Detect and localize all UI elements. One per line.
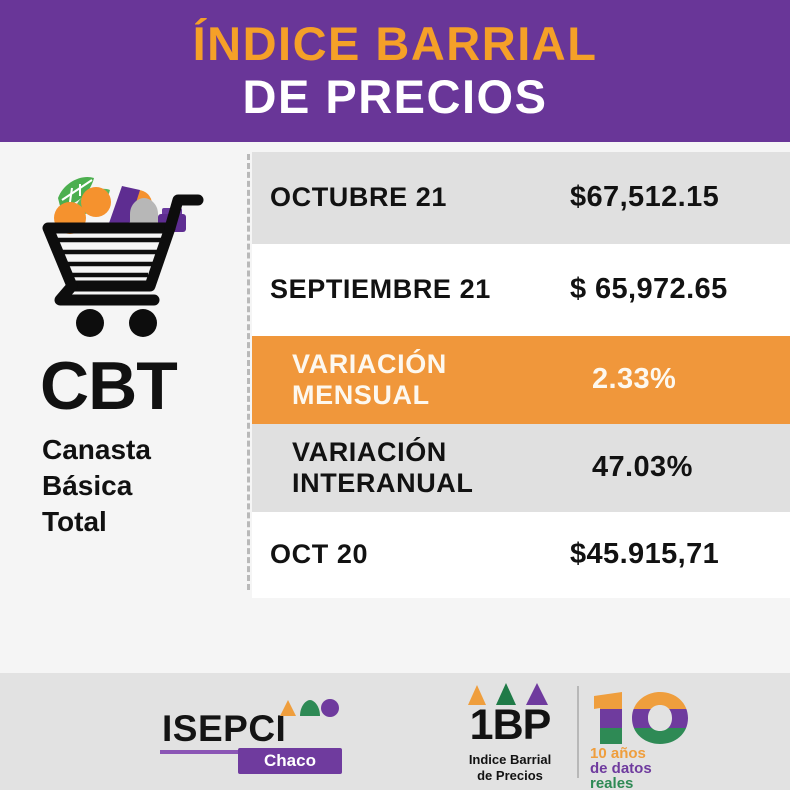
table-row-highlighted: VARIACIÓN MENSUAL 2.33% [252, 336, 790, 424]
poster-header: ÍNDICE BARRIAL DE PRECIOS [0, 0, 790, 142]
cbt-panel: CBT Canasta Básica Total [0, 142, 248, 673]
header-title-line2: DE PRECIOS [243, 71, 548, 123]
anniversary-10-icon [588, 690, 692, 751]
table-row-label: SEPTIEMBRE 21 [252, 274, 570, 305]
isepci-dots-icon [276, 694, 340, 725]
table-row-value: $45.915,71 [570, 539, 719, 571]
shopping-cart-icon [38, 160, 208, 338]
poster-body: CBT Canasta Básica Total OCTUBRE 21 $67,… [0, 142, 790, 673]
vertical-dashed-divider [247, 154, 250, 590]
infographic-poster: ÍNDICE BARRIAL DE PRECIOS [0, 0, 790, 790]
poster-footer: ISEPCI Chaco 1BP Indice Barri [0, 673, 790, 790]
table-row-value: $ 65,972.65 [570, 274, 728, 306]
isepci-wordmark: ISEPCI [162, 708, 286, 750]
isepci-region-badge: Chaco [238, 748, 342, 774]
ibp-logo: 1BP Indice Barrial de Precios [452, 682, 568, 782]
price-table: OCTUBRE 21 $67,512.15 SEPTIEMBRE 21 $ 65… [252, 152, 790, 598]
anniversary-line3: reales [590, 775, 633, 790]
table-row-label: VARIACIÓN MENSUAL [252, 349, 570, 412]
table-row-label: OCT 20 [252, 539, 570, 570]
table-row: OCT 20 $45.915,71 [252, 512, 790, 598]
ibp-subtitle: Indice Barrial de Precios [452, 752, 568, 785]
ibp-wordmark: 1BP [452, 704, 568, 747]
table-row-value: 47.03% [570, 452, 693, 484]
cbt-acronym: CBT [40, 352, 177, 420]
table-row: OCTUBRE 21 $67,512.15 [252, 152, 790, 244]
header-title-line1: ÍNDICE BARRIAL [193, 19, 598, 68]
table-row-value: 2.33% [570, 364, 676, 396]
table-row: SEPTIEMBRE 21 $ 65,972.65 [252, 244, 790, 336]
table-row: VARIACIÓN INTERANUAL 47.03% [252, 424, 790, 512]
footer-vertical-rule [577, 686, 579, 778]
isepci-logo: ISEPCI Chaco [160, 686, 340, 778]
table-row-value: $67,512.15 [570, 182, 719, 214]
cbt-subtitle: Canasta Básica Total [42, 432, 151, 539]
anniversary-logo: 10 años de datos reales [586, 690, 696, 780]
table-row-label: VARIACIÓN INTERANUAL [252, 437, 570, 500]
table-row-label: OCTUBRE 21 [252, 182, 570, 213]
